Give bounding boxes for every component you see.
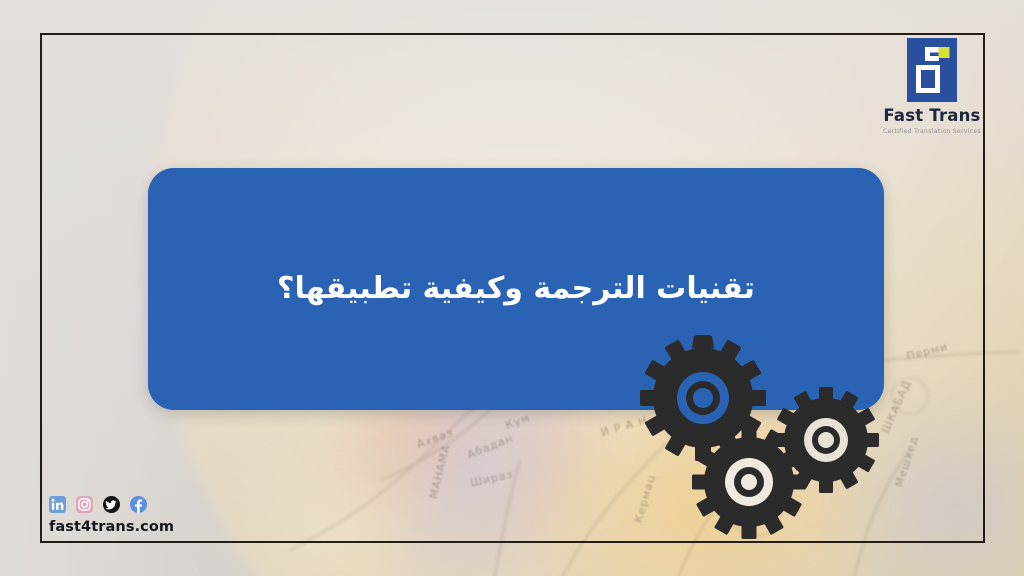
logo-wordmark: Fast Trans	[880, 108, 984, 125]
social-links	[49, 494, 174, 514]
brand-logo: Fast Trans Certified Translation Service…	[880, 38, 984, 135]
instagram-icon[interactable]	[76, 496, 93, 513]
page-title: تقنيات الترجمة وكيفية تطبيقها؟	[237, 268, 795, 310]
facebook-icon[interactable]	[130, 496, 147, 513]
slide-canvas: И Р А Н ШКАБАД Мешхед Шираз Кермац Кум А…	[0, 0, 1024, 576]
logo-tagline: Certified Translation Services	[880, 128, 984, 135]
website-url[interactable]: fast4trans.com	[49, 519, 174, 535]
gears-illustration	[628, 330, 896, 542]
footer: fast4trans.com	[49, 494, 174, 535]
fast-trans-logo-icon	[907, 38, 957, 102]
twitter-icon[interactable]	[103, 496, 120, 513]
linkedin-icon[interactable]	[49, 496, 66, 513]
